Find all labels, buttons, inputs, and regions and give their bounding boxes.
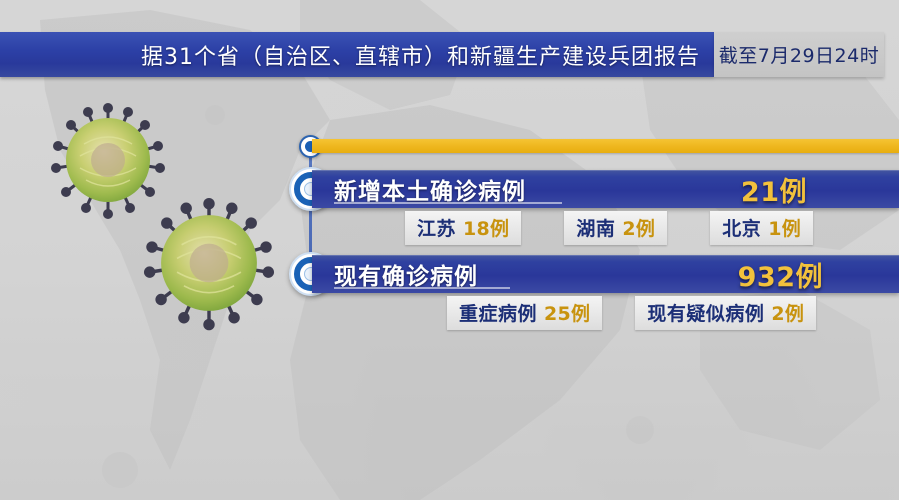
breakdown-pill: 重症病例 25例: [447, 296, 602, 330]
stat-band-existing-confirmed: 现有确诊病例 932例: [312, 255, 899, 293]
breakdown-pill: 湖南 2例: [564, 211, 667, 245]
breakdown-row-new-local-confirmed: 江苏 18例 湖南 2例 北京 1例: [405, 211, 813, 245]
broadcast-graphic: 据31个省（自治区、直辖市）和新疆生产建设兵团报告 截至7月29日24时 新增本…: [0, 0, 899, 500]
breakdown-pill: 现有疑似病例 2例: [635, 296, 816, 330]
stat-value: 932例: [738, 255, 823, 294]
stat-label-underline: [334, 287, 510, 289]
stat-value: 21例: [741, 170, 807, 209]
breakdown-name: 江苏: [417, 214, 456, 241]
report-date-bar: 截至7月29日24时: [714, 32, 884, 77]
breakdown-pill: 北京 1例: [710, 211, 813, 245]
breakdown-name: 北京: [722, 214, 761, 241]
breakdown-name: 现有疑似病例: [647, 299, 764, 326]
breakdown-value: 1例: [768, 214, 801, 241]
breakdown-value: 2例: [771, 299, 804, 326]
stat-label-underline: [334, 202, 562, 204]
breakdown-name: 重症病例: [459, 299, 537, 326]
report-date-text: 截至7月29日24时: [719, 41, 879, 68]
breakdown-value: 18例: [463, 214, 509, 241]
breakdown-name: 湖南: [576, 214, 615, 241]
stat-label: 现有确诊病例: [334, 257, 478, 291]
report-source-bar: 据31个省（自治区、直辖市）和新疆生产建设兵团报告: [0, 32, 714, 77]
report-header: 据31个省（自治区、直辖市）和新疆生产建设兵团报告 截至7月29日24时: [0, 32, 884, 77]
virus-particle-icon: [136, 190, 282, 336]
breakdown-value: 2例: [622, 214, 655, 241]
breakdown-value: 25例: [544, 299, 590, 326]
report-source-text: 据31个省（自治区、直辖市）和新疆生产建设兵团报告: [141, 39, 700, 71]
breakdown-row-existing-confirmed: 重症病例 25例 现有疑似病例 2例: [447, 296, 816, 330]
stat-band-new-local-confirmed: 新增本土确诊病例 21例: [312, 170, 899, 208]
stat-label: 新增本土确诊病例: [334, 172, 526, 206]
gold-accent-bar: [312, 139, 899, 153]
breakdown-pill: 江苏 18例: [405, 211, 521, 245]
